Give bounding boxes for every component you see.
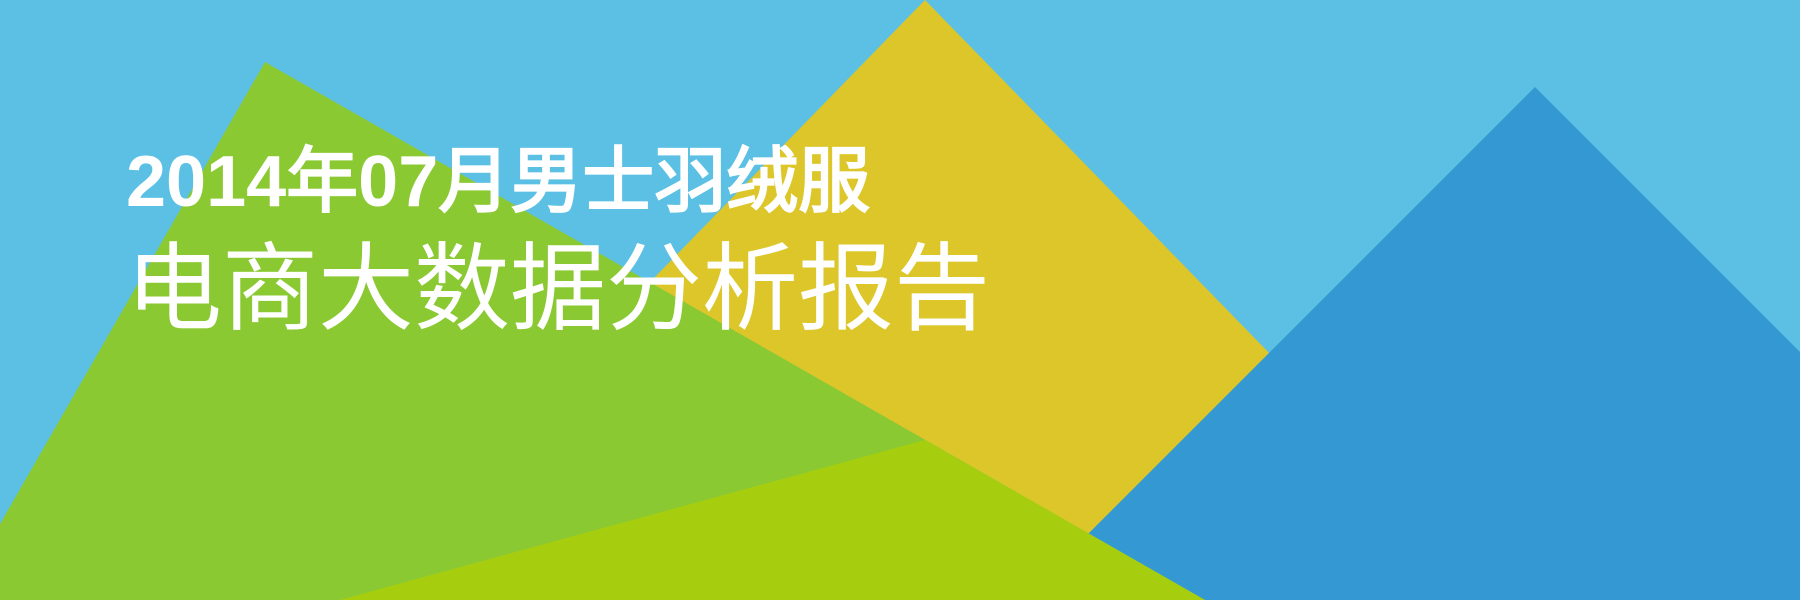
report-cover-banner: 2014年07月男士羽绒服 电商大数据分析报告 xyxy=(0,0,1800,600)
decorative-background xyxy=(0,0,1800,600)
